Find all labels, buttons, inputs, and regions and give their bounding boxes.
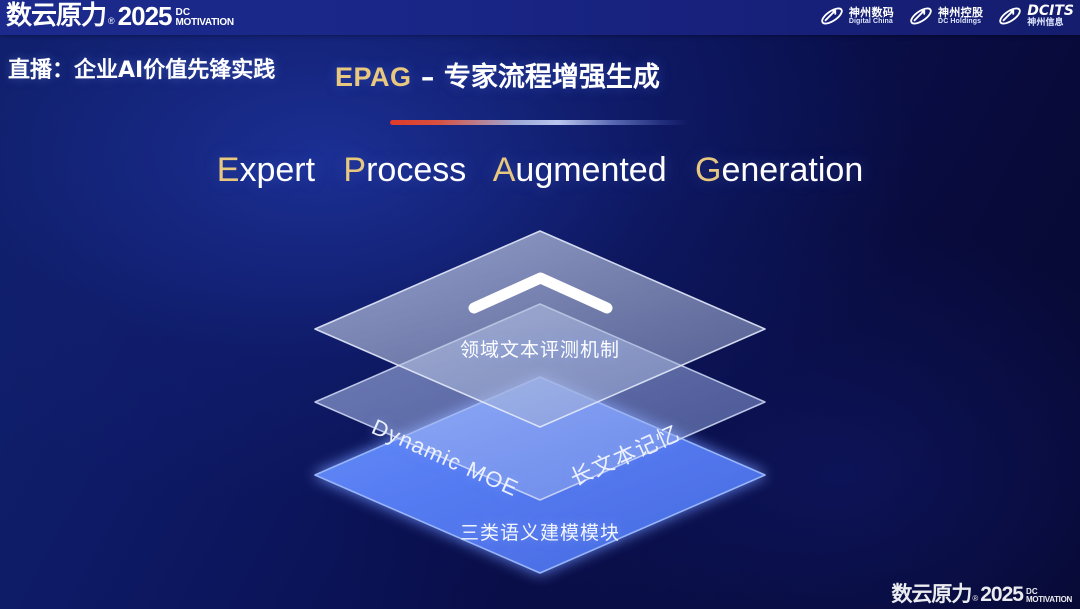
- watermark-cn: 数云原力: [891, 583, 971, 606]
- subtitle-word-capital: A: [493, 151, 516, 189]
- watermark-dc-line2: MOTIVATION: [1026, 596, 1072, 604]
- title-divider: [390, 120, 690, 125]
- subtitle-word-capital: P: [343, 151, 366, 189]
- slide-canvas: 数云原力 ® 2025 DC MOTIVATION 神州数码 Digital C…: [0, 0, 1080, 609]
- partner-name-en: 神州信息: [1027, 19, 1074, 28]
- live-stream-title: 直播：企业AI价值先锋实践: [8, 52, 275, 84]
- subtitle-word: Generation: [695, 151, 863, 189]
- watermark-registered-mark: ®: [972, 591, 978, 606]
- partner-name-cn: DCITS: [1027, 4, 1074, 19]
- brand-logo-year: 2025: [118, 2, 172, 30]
- stack-layer-bottom-label: 三类语义建模模块: [313, 518, 767, 545]
- brand-logo-dc-motivation: DC MOTIVATION: [176, 8, 234, 30]
- partner-name-cn: 神州控股: [938, 7, 983, 19]
- footer-watermark-logo: 数云原力 ® 2025 DC MOTIVATION: [891, 583, 1072, 606]
- subtitle-word-rest: eneration: [721, 151, 863, 189]
- stack-layer-top[interactable]: [313, 230, 767, 430]
- swirl-icon: [908, 3, 934, 29]
- partner-logo-digital-china: 神州数码 Digital China: [819, 3, 894, 29]
- brand-logo-dc-line2: MOTIVATION: [176, 18, 234, 28]
- partner-logo-group: 神州数码 Digital China 神州控股 DC Holdings: [819, 3, 1074, 29]
- watermark-year: 2025: [980, 583, 1023, 606]
- subtitle-word-rest: rocess: [366, 151, 466, 189]
- subtitle-english: Expert Process Augmented Generation: [0, 151, 1080, 190]
- page-title-cn: – 专家流程增强生成: [412, 62, 660, 93]
- watermark-dc-motivation: DC MOTIVATION: [1026, 588, 1072, 606]
- header-bar: 数云原力 ® 2025 DC MOTIVATION 神州数码 Digital C…: [0, 0, 1080, 35]
- swirl-icon: [997, 3, 1023, 29]
- brand-logo-registered-mark: ®: [108, 12, 115, 30]
- subtitle-word: Augmented: [493, 151, 667, 189]
- isometric-layer-stack: 领域文本评测机制 Dynamic MOE 长文本记忆 三类语义建模模块: [313, 230, 767, 570]
- brand-logo: 数云原力 ® 2025 DC MOTIVATION: [6, 2, 234, 30]
- subtitle-word-capital: E: [217, 151, 240, 189]
- subtitle-word-rest: ugmented: [515, 151, 666, 189]
- subtitle-word-capital: G: [695, 151, 721, 189]
- chevron-up-icon: [468, 272, 613, 314]
- partner-logo-dc-holdings: 神州控股 DC Holdings: [908, 3, 983, 29]
- page-title: EPAG – 专家流程增强生成: [335, 55, 660, 94]
- partner-logo-dcits: DCITS 神州信息: [997, 3, 1074, 29]
- subtitle-word: Process: [343, 151, 466, 189]
- brand-logo-cn: 数云原力: [6, 2, 106, 30]
- page-title-acronym: EPAG: [335, 62, 412, 92]
- subtitle-word-rest: xpert: [239, 151, 315, 189]
- subtitle-word: Expert: [217, 151, 315, 189]
- swirl-icon: [819, 3, 845, 29]
- stack-layer-top-label: 领域文本评测机制: [313, 335, 767, 362]
- partner-name-en: Digital China: [849, 18, 894, 25]
- partner-name-cn: 神州数码: [849, 7, 894, 19]
- partner-name-en: DC Holdings: [938, 18, 983, 25]
